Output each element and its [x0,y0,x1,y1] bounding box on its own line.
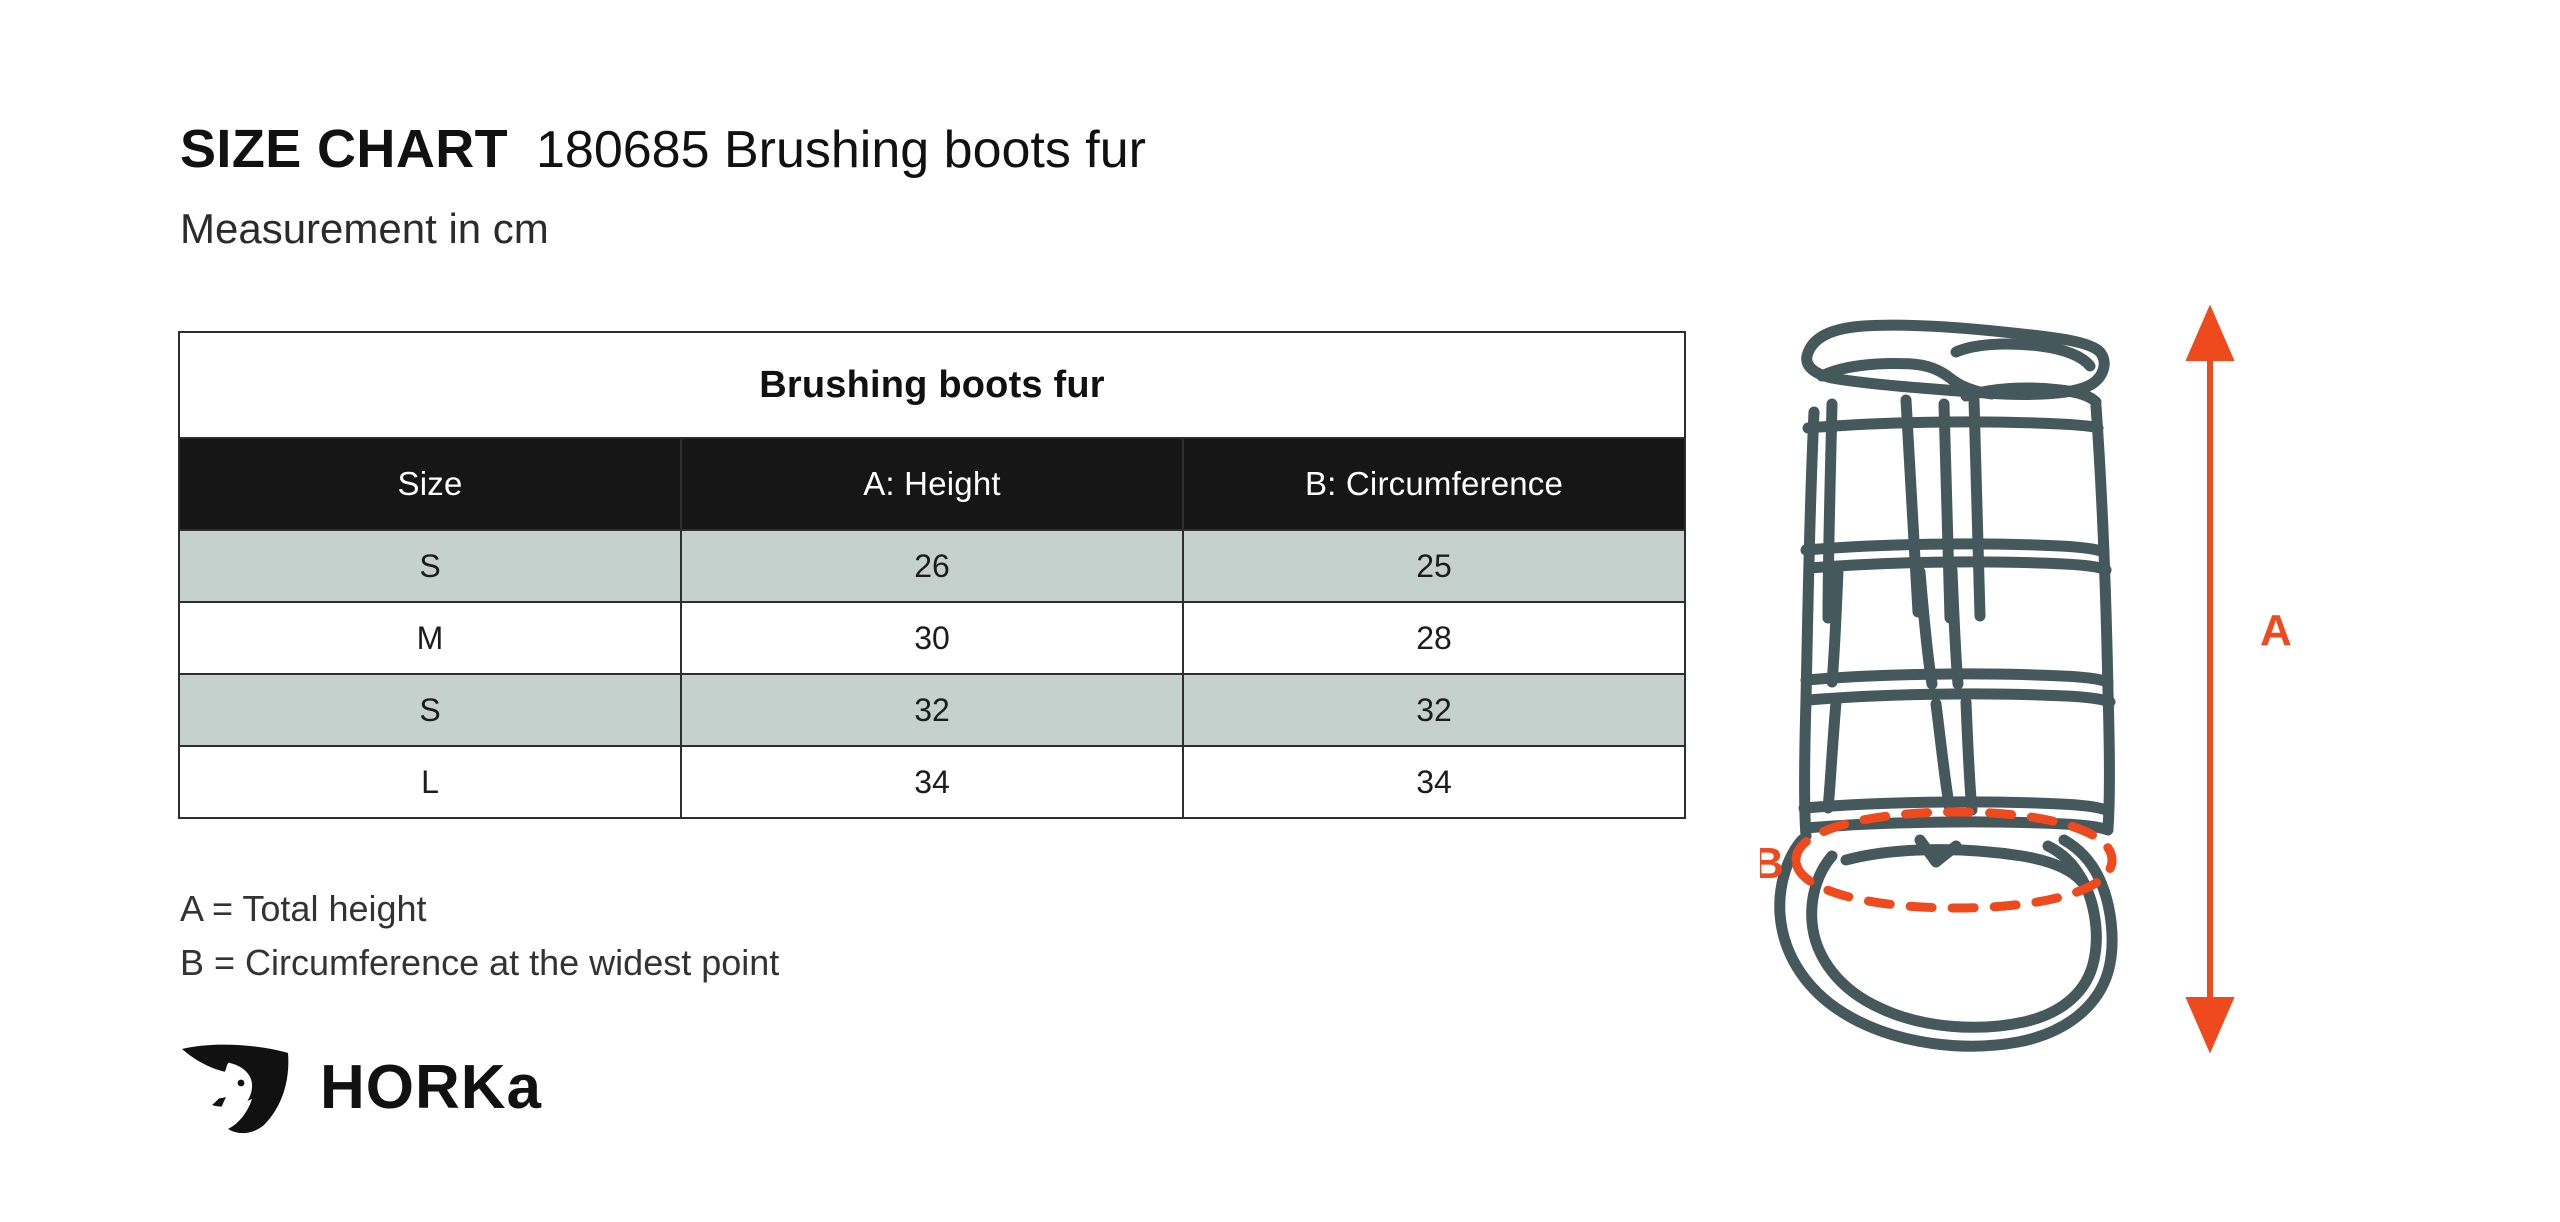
svg-text:HORKa: HORKa [320,1054,542,1122]
table-caption: Brushing boots fur [179,332,1685,438]
brand-logo: HORKa [178,1043,568,1140]
brushing-boot-drawing [1780,325,2112,1046]
size-table-body: S 26 25 M 30 28 S 32 32 L 34 34 [179,530,1685,818]
legend-note-a: A = Total height [180,890,779,928]
cell-size: M [179,602,681,674]
label-a: A [2260,606,2292,655]
cell-size: S [179,674,681,746]
height-arrow [2190,312,2230,1046]
cell-circumference: 28 [1183,602,1685,674]
column-header-height: A: Height [681,438,1183,530]
table-header-row: Size A: Height B: Circumference [179,438,1685,530]
cell-circumference: 34 [1183,746,1685,818]
size-table-head: Brushing boots fur Size A: Height B: Cir… [179,332,1685,530]
label-b: B [1760,839,1784,888]
measurement-unit-note: Measurement in cm [180,205,549,253]
size-table: Brushing boots fur Size A: Height B: Cir… [178,331,1686,819]
product-illustration: B A [1760,300,2380,1070]
cell-height: 34 [681,746,1183,818]
table-row: M 30 28 [179,602,1685,674]
table-caption-row: Brushing boots fur [179,332,1685,438]
column-header-size: Size [179,438,681,530]
cell-size: L [179,746,681,818]
page-title-product: 180685 Brushing boots fur [536,120,1146,180]
column-header-circumference: B: Circumference [1183,438,1685,530]
cell-size: S [179,530,681,602]
brand-wordmark: HORKa [320,1054,568,1129]
legend-note-b: B = Circumference at the widest point [180,944,779,982]
table-row: S 32 32 [179,674,1685,746]
cell-circumference: 32 [1183,674,1685,746]
cell-height: 32 [681,674,1183,746]
legend-notes: A = Total height B = Circumference at th… [180,890,779,982]
cell-circumference: 25 [1183,530,1685,602]
table-row: L 34 34 [179,746,1685,818]
cell-height: 26 [681,530,1183,602]
page-title-prefix: SIZE CHART [180,118,508,180]
page-title: SIZE CHART 180685 Brushing boots fur [180,118,1146,180]
table-row: S 26 25 [179,530,1685,602]
cell-height: 30 [681,602,1183,674]
size-chart-page: SIZE CHART 180685 Brushing boots fur Mea… [0,0,2560,1222]
horse-head-shield-icon [178,1043,296,1140]
